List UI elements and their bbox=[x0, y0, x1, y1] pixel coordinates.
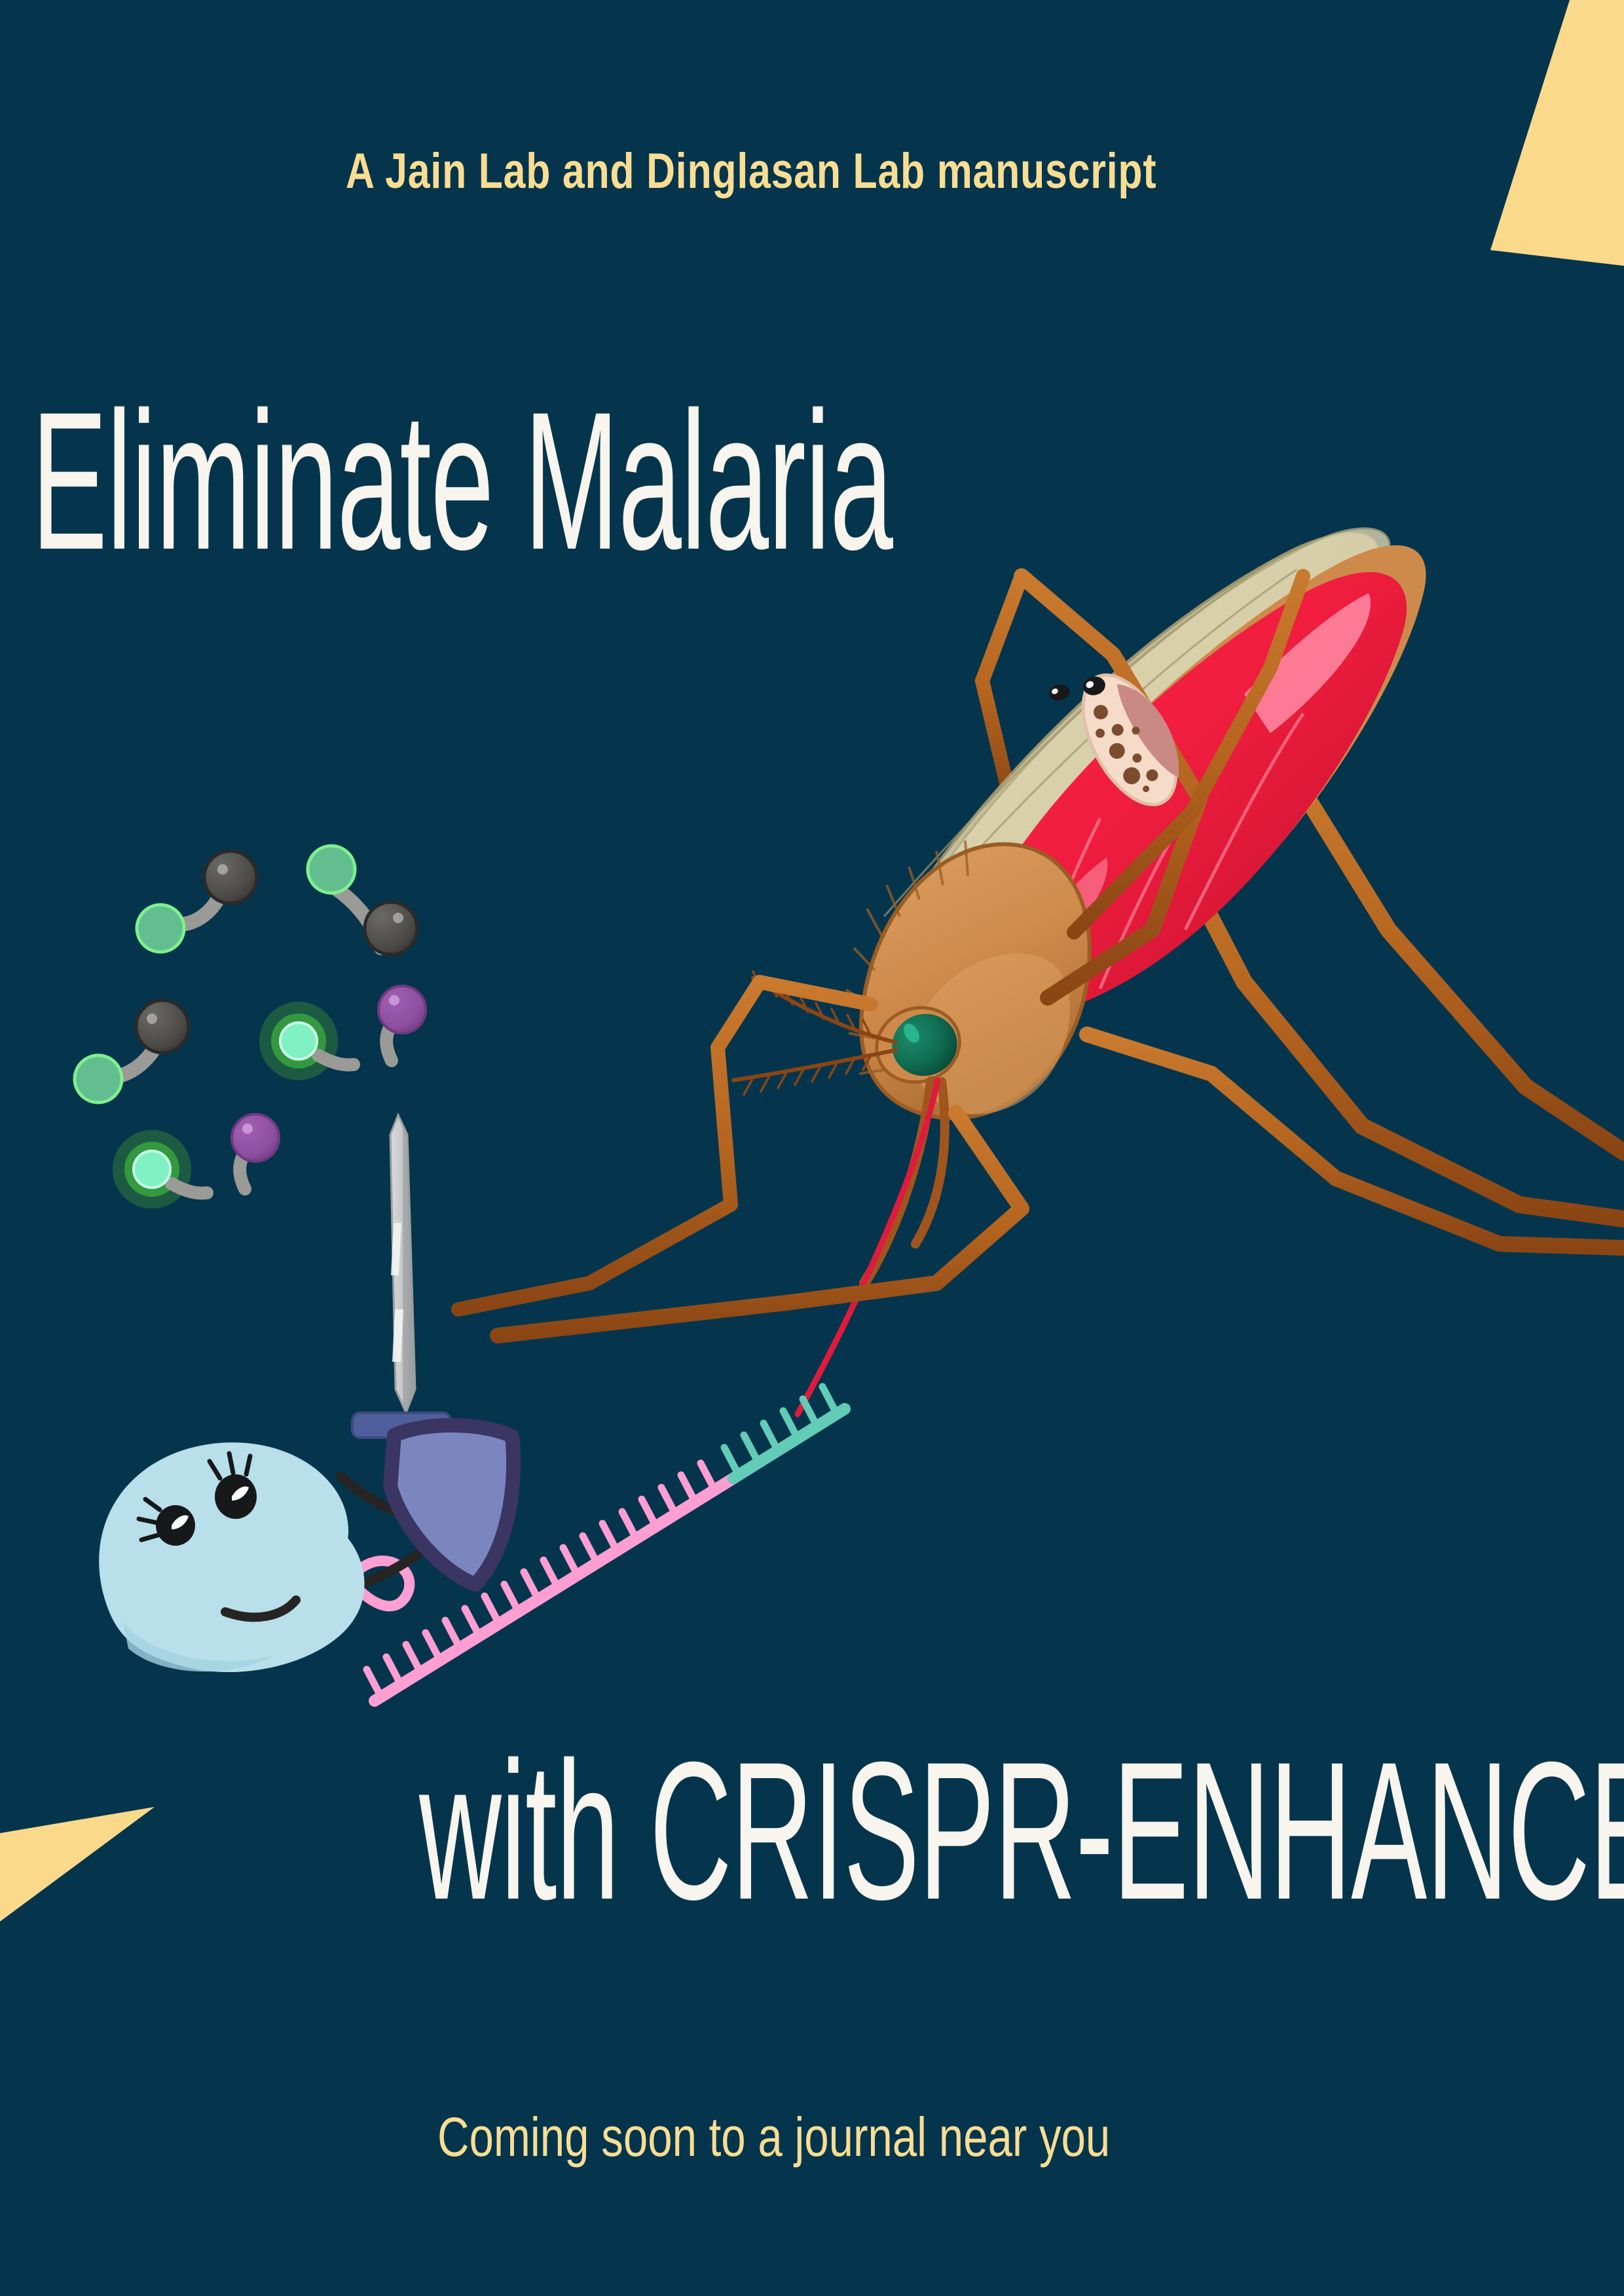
probe-purple-glint bbox=[389, 995, 399, 1006]
probe-quenched-3 bbox=[75, 1000, 189, 1102]
cas9-character bbox=[99, 1442, 364, 1672]
probe-quencher bbox=[136, 1000, 189, 1053]
poster-title-main: Eliminate Malaria bbox=[31, 390, 893, 571]
probe-quencher bbox=[204, 851, 257, 903]
probe-fluorophore-active bbox=[134, 1151, 170, 1188]
probe-quencher-glint bbox=[147, 1013, 157, 1024]
crispr-illustration bbox=[0, 0, 1624, 2296]
probe-cleaved-1 bbox=[259, 986, 426, 1080]
probe-linker-cut bbox=[318, 1055, 354, 1065]
probe-quencher-glint bbox=[217, 864, 228, 875]
probe-fluorophore bbox=[75, 1055, 122, 1102]
probe-fluorophore-active bbox=[280, 1023, 317, 1059]
probe-linker-cut bbox=[172, 1184, 207, 1193]
poster-canvas: A Jain Lab and Dinglasan Lab manuscript … bbox=[0, 0, 1624, 2296]
probe-purple-bead bbox=[232, 1114, 279, 1161]
probe-quencher bbox=[365, 902, 417, 955]
poster-kicker: A Jain Lab and Dinglasan Lab manuscript bbox=[346, 143, 1156, 200]
probe-fluorophore bbox=[308, 846, 355, 893]
poster-tagline: Coming soon to a journal near you bbox=[437, 2105, 1110, 2169]
probe-cleaved-2 bbox=[113, 1114, 279, 1209]
probe-quenched-2 bbox=[308, 846, 417, 955]
probe-purple-bead bbox=[378, 986, 426, 1033]
probe-fluorophore bbox=[137, 905, 184, 952]
probe-quencher-glint bbox=[393, 913, 403, 923]
probe-quenched-1 bbox=[137, 851, 257, 952]
poster-title-sub: with CRISPR-ENHANCE bbox=[419, 1740, 1624, 1921]
probe-purple-glint bbox=[242, 1123, 253, 1134]
